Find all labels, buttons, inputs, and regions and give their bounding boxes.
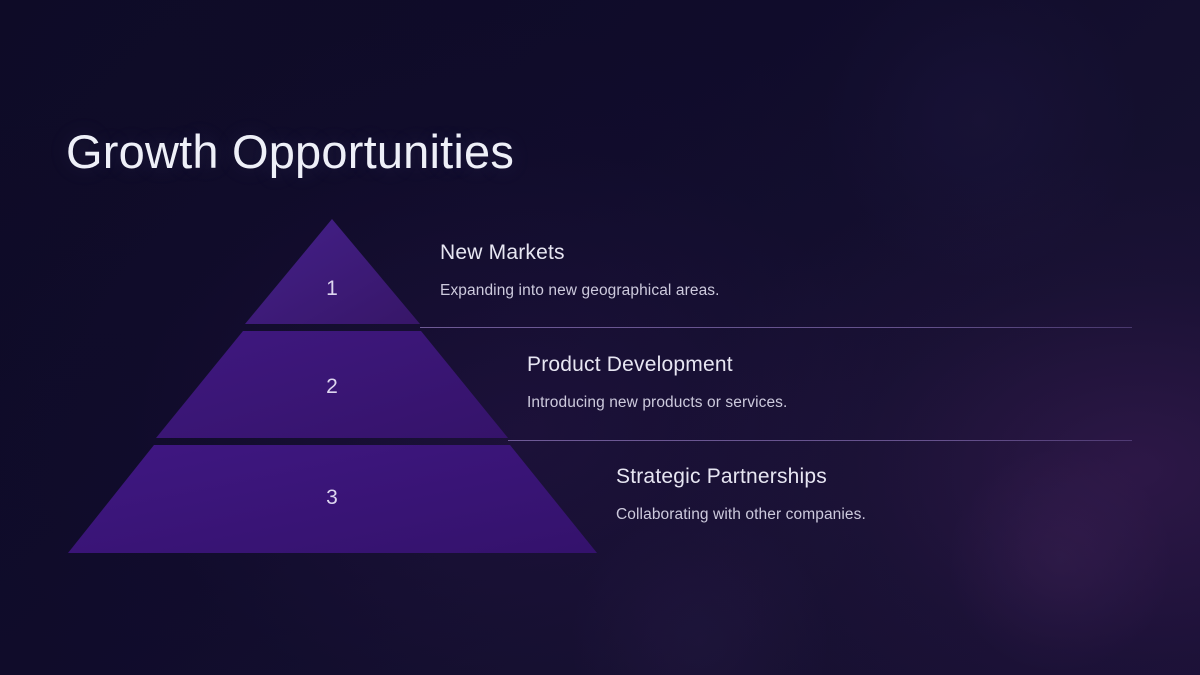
pyramid-tier-3-text: Strategic Partnerships Collaborating wit… <box>616 464 866 525</box>
tier-divider-rule-2 <box>508 440 1132 441</box>
slide-canvas: Growth Opportunities 1 2 3 <box>0 0 1200 675</box>
page-title: Growth Opportunities <box>66 124 514 179</box>
tier-1-title: New Markets <box>440 240 720 265</box>
tier-1-description: Expanding into new geographical areas. <box>440 281 720 301</box>
tier-2-title: Product Development <box>527 352 787 377</box>
pyramid-tier-3-number: 3 <box>302 487 362 508</box>
pyramid-tier-1-shape[interactable] <box>245 219 420 324</box>
pyramid-diagram <box>0 0 1200 675</box>
pyramid-tier-1-text: New Markets Expanding into new geographi… <box>440 240 720 301</box>
pyramid-tier-2-number: 2 <box>302 376 362 397</box>
pyramid-tier-1-number: 1 <box>302 278 362 299</box>
tier-2-description: Introducing new products or services. <box>527 393 787 413</box>
pyramid-tier-2-text: Product Development Introducing new prod… <box>527 352 787 413</box>
tier-3-title: Strategic Partnerships <box>616 464 866 489</box>
tier-3-description: Collaborating with other companies. <box>616 505 866 525</box>
tier-divider-rule-1 <box>420 327 1132 328</box>
